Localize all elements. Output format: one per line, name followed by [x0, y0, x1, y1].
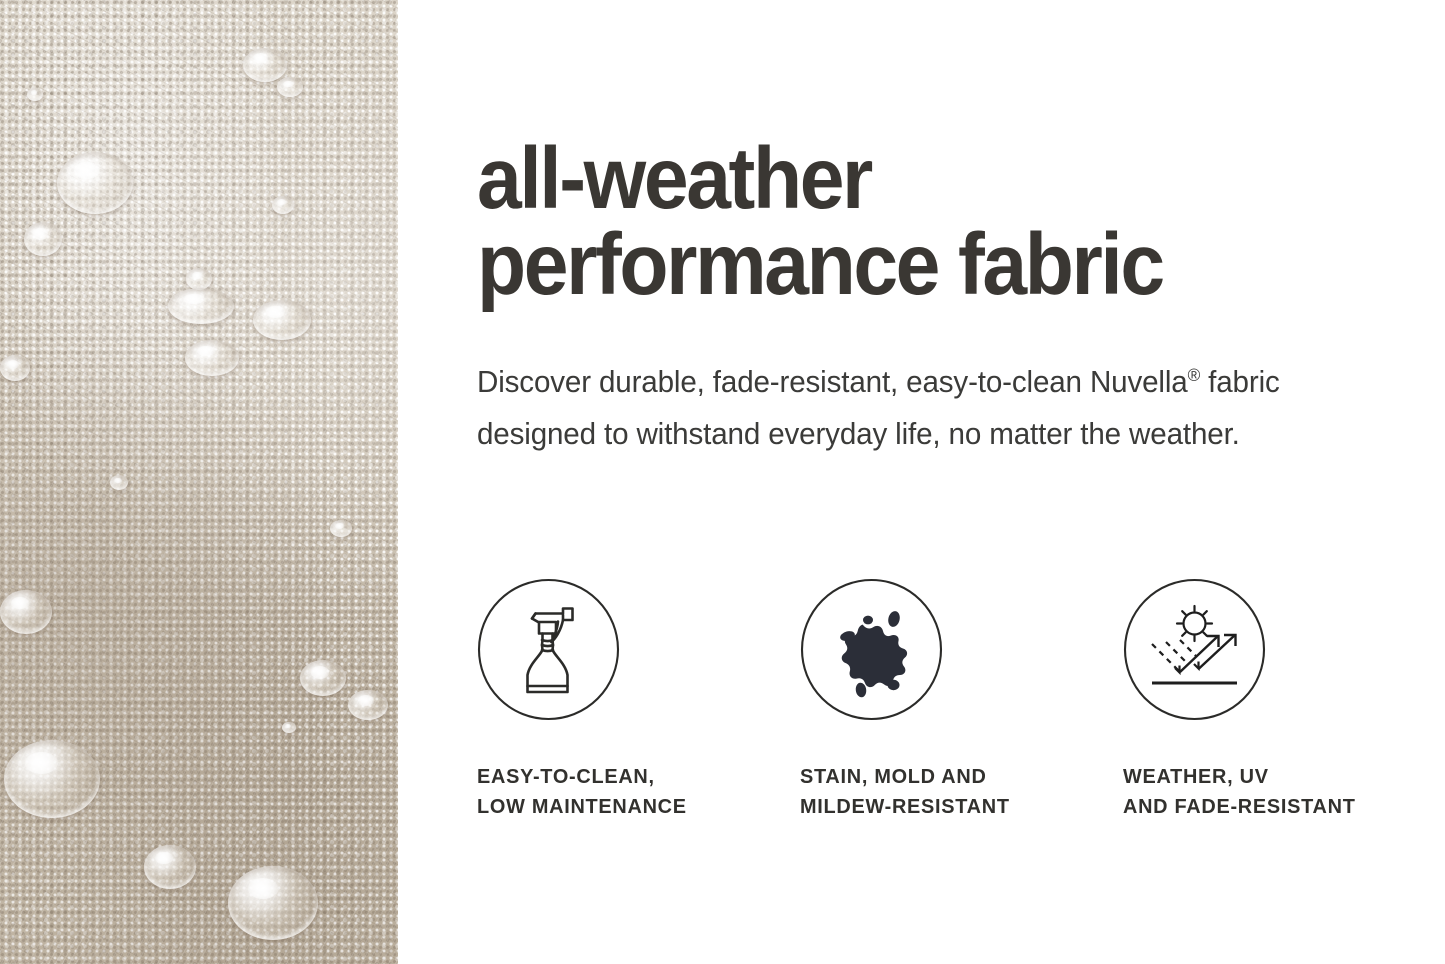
- water-droplet: [282, 722, 296, 733]
- feature-item-easy-to-clean: EASY-TO-CLEAN, LOW MAINTENANCE: [477, 578, 800, 822]
- stain-splatter-icon: [800, 578, 943, 721]
- water-droplet: [4, 740, 100, 818]
- page-title: all-weather performance fabric: [477, 136, 1310, 308]
- feature-caption: WEATHER, UV AND FADE-RESISTANT: [1123, 721, 1436, 822]
- water-droplet: [330, 520, 352, 537]
- water-droplet: [27, 88, 43, 101]
- water-droplet: [300, 660, 346, 696]
- fabric-photo: [0, 0, 398, 964]
- water-droplet: [272, 196, 294, 214]
- feature-caption: EASY-TO-CLEAN, LOW MAINTENANCE: [477, 721, 790, 822]
- registered-trademark-mark: ®: [1188, 365, 1201, 385]
- water-droplet: [24, 222, 62, 256]
- subcopy-paragraph: Discover durable, fade-resistant, easy-t…: [477, 356, 1331, 460]
- water-droplet: [348, 690, 388, 720]
- water-droplet: [57, 152, 133, 214]
- water-droplet: [144, 845, 196, 889]
- feature-item-stain-resistant: STAIN, MOLD AND MILDEW-RESISTANT: [800, 578, 1123, 822]
- water-droplet: [253, 300, 311, 340]
- water-droplet: [243, 48, 287, 82]
- feature-list: EASY-TO-CLEAN, LOW MAINTENANCE STAIN, MO…: [477, 578, 1377, 822]
- spray-bottle-icon: [477, 578, 620, 721]
- water-droplet: [277, 77, 303, 97]
- subcopy-part1: Discover durable, fade-resistant, easy-t…: [477, 365, 1188, 399]
- water-droplet: [185, 340, 239, 376]
- water-droplet: [0, 590, 52, 634]
- water-droplet: [110, 475, 128, 490]
- feature-item-weather-uv-fade: WEATHER, UV AND FADE-RESISTANT: [1123, 578, 1445, 822]
- fabric-shading: [0, 0, 398, 964]
- water-droplet: [0, 355, 30, 381]
- water-droplet: [168, 288, 234, 324]
- water-droplet: [228, 866, 318, 940]
- all-weather-fabric-banner: all-weather performance fabric Discover …: [0, 0, 1445, 964]
- content-column: all-weather performance fabric Discover …: [477, 0, 1377, 964]
- sun-uv-fade-icon: [1123, 578, 1266, 721]
- water-droplet: [186, 268, 212, 290]
- feature-caption: STAIN, MOLD AND MILDEW-RESISTANT: [800, 721, 1113, 822]
